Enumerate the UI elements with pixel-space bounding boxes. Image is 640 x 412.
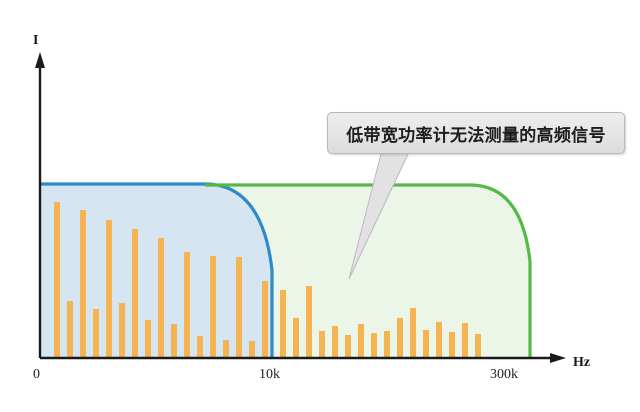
bar [67,301,73,358]
bar [158,238,164,358]
bar [371,333,377,358]
bar [93,309,99,358]
bar [423,330,429,358]
bar [80,210,86,358]
bar [293,318,299,358]
x-tick-label-300k: 300k [490,367,518,383]
bar [436,322,442,358]
bar [462,323,468,358]
bar [145,320,151,358]
bar [223,340,229,358]
x-tick-label-0: 0 [33,367,40,383]
bar [119,303,125,358]
bar [319,331,325,358]
bar [332,326,338,358]
bar [384,331,390,358]
bar [132,229,138,358]
callout-annotation-text: 低带宽功率计无法测量的高频信号 [346,121,606,146]
bar [236,257,242,358]
y-axis-arrow [35,52,45,68]
bar [184,252,190,358]
bar [280,290,286,358]
bar [106,220,112,358]
x-axis-title: Hz [573,355,590,371]
x-tick-label-10k: 10k [259,367,280,383]
bar [54,202,60,358]
bar [397,318,403,358]
bar [410,308,416,358]
bar [449,332,455,358]
bar [210,256,216,358]
bar [197,336,203,358]
x-axis-arrow [550,353,566,363]
bar [262,281,268,358]
bar [249,341,255,358]
bar [171,324,177,358]
bar [345,335,351,358]
bar [306,286,312,358]
callout-annotation: 低带宽功率计无法测量的高频信号 [327,112,625,154]
spectrum-plot [0,0,640,412]
bar [475,334,481,358]
y-axis-title: I [33,33,38,49]
bar [358,324,364,358]
chart-canvas: 低带宽功率计无法测量的高频信号 I Hz 0 10k 300k [0,0,640,412]
